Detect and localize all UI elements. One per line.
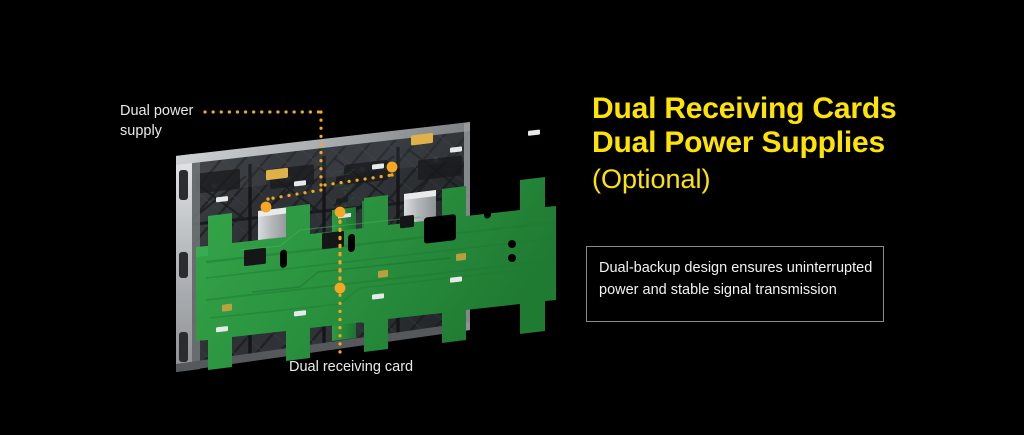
headline-line-2: Dual Power Supplies [592,126,1012,160]
headline-line-1: Dual Receiving Cards [592,92,1012,126]
headline-block: Dual Receiving Cards Dual Power Supplies… [592,92,1012,195]
callout-label-dual-power-supply: Dual power supply [120,102,193,141]
description-box: Dual-backup design ensures uninterrupted… [586,246,884,322]
callout-label-dual-receiving-card: Dual receiving card [289,358,413,378]
description-text: Dual-backup design ensures uninterrupted… [599,257,877,301]
callout-leader-lines [0,0,1024,435]
slide-canvas: Dual power supply Dual receiving card Du… [0,0,1024,435]
headline-optional-tag: (Optional) [592,164,1012,195]
leader-endpoint-dots [261,162,398,294]
